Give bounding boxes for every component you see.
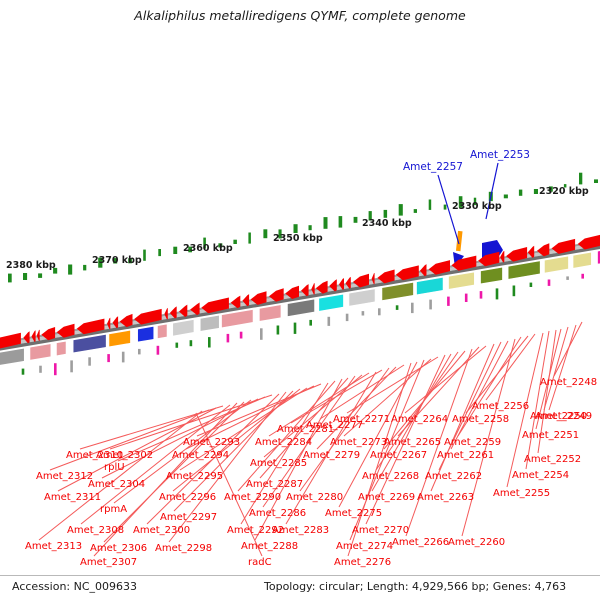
gene-label[interactable]: Amet_2259 — [444, 437, 501, 448]
gene-label[interactable]: Amet_2262 — [425, 471, 482, 482]
cog-category-block[interactable] — [544, 256, 568, 273]
gene-label[interactable]: Amet_2306 — [90, 543, 147, 554]
rna-feature-tick[interactable] — [519, 190, 522, 196]
cog-category-block[interactable] — [259, 305, 281, 322]
ruler-tick-label-0: 2380 kbp — [6, 260, 56, 271]
gene-label[interactable]: Amet_2273 — [330, 437, 387, 448]
cog-category-block[interactable] — [0, 348, 24, 366]
gene-label[interactable]: Amet_2269 — [358, 492, 415, 503]
gene-label[interactable]: Amet_2297 — [160, 512, 217, 523]
cog-category-block[interactable] — [349, 289, 375, 306]
feature-amet-2257-tick[interactable] — [456, 231, 463, 251]
rna-feature-tick[interactable] — [173, 247, 177, 254]
gene-label[interactable]: Amet_2307 — [80, 557, 137, 568]
gene-label[interactable]: Amet_2263 — [417, 492, 474, 503]
gene-label[interactable]: Amet_2274 — [336, 541, 393, 552]
secondary-feature-tick[interactable] — [294, 323, 297, 334]
secondary-feature-tick[interactable] — [378, 308, 381, 315]
secondary-feature-tick[interactable] — [411, 303, 414, 313]
ruler-tick-label-5: 2330 kbp — [452, 201, 502, 212]
secondary-feature-tick[interactable] — [22, 369, 25, 375]
rna-feature-tick[interactable] — [233, 240, 237, 244]
gene-label[interactable]: Amet_2293 — [183, 437, 240, 448]
secondary-feature-tick[interactable] — [346, 314, 349, 321]
cog-category-block[interactable] — [56, 341, 66, 356]
secondary-feature-tick[interactable] — [240, 332, 243, 339]
gene-label[interactable]: Amet_2285 — [250, 458, 307, 469]
gene-label[interactable]: Amet_2312 — [36, 471, 93, 482]
rna-feature-tick[interactable] — [354, 217, 358, 223]
gene-label[interactable]: Amet_2311 — [44, 492, 101, 503]
gene-label[interactable]: Amet_2256 — [472, 401, 529, 412]
secondary-feature-tick[interactable] — [70, 360, 73, 372]
secondary-feature-tick[interactable] — [39, 366, 42, 373]
secondary-feature-tick[interactable] — [309, 320, 312, 326]
gene-arrow-track[interactable] — [0, 231, 600, 349]
secondary-feature-tick[interactable] — [157, 346, 160, 355]
rna-feature-tick[interactable] — [143, 250, 146, 261]
rna-feature-tick[interactable] — [83, 265, 86, 271]
rna-feature-tick[interactable] — [38, 273, 42, 278]
gene-label[interactable]: Amet_2267 — [370, 450, 427, 461]
gene-label[interactable]: Amet_2270 — [352, 525, 409, 536]
gene-label[interactable]: Amet_2266 — [392, 537, 449, 548]
gene-label[interactable]: Amet_2280 — [286, 492, 343, 503]
secondary-feature-tick[interactable] — [496, 288, 499, 299]
rna-feature-tick[interactable] — [429, 200, 432, 210]
cog-category-block[interactable] — [417, 277, 444, 295]
cog-category-block[interactable] — [109, 330, 131, 347]
ruler-tick-label-2: 2360 kbp — [183, 243, 233, 254]
cog-category-block[interactable] — [573, 252, 591, 268]
rna-feature-tick[interactable] — [504, 195, 508, 199]
cog-category-block[interactable] — [319, 294, 344, 311]
gene-label[interactable]: Amet_2308 — [67, 525, 124, 536]
gene-label[interactable]: Amet_2251 — [522, 430, 579, 441]
secondary-feature-tick[interactable] — [176, 343, 179, 348]
gene-label[interactable]: radC — [248, 557, 272, 568]
rna-feature-tick[interactable] — [8, 274, 12, 283]
leader-line — [549, 325, 576, 410]
gene-label[interactable]: Amet_2304 — [88, 479, 145, 490]
secondary-feature-tick[interactable] — [227, 334, 230, 343]
cog-category-block[interactable] — [157, 324, 167, 339]
rna-feature-tick[interactable] — [23, 273, 27, 280]
gene-label[interactable]: Amet_2313 — [25, 541, 82, 552]
gene-label[interactable]: Amet_2265 — [384, 437, 441, 448]
secondary-feature-tick[interactable] — [566, 276, 569, 280]
secondary-feature-tick[interactable] — [513, 286, 516, 297]
rna-feature-tick[interactable] — [579, 173, 582, 185]
secondary-feature-tick[interactable] — [208, 337, 211, 347]
cog-category-block[interactable] — [287, 299, 314, 317]
secondary-feature-tick[interactable] — [581, 274, 584, 279]
secondary-feature-tick[interactable] — [548, 280, 551, 286]
gene-label[interactable]: Amet_2286 — [249, 508, 306, 519]
cog-category-block[interactable] — [138, 326, 154, 342]
genome-map-viewer: Alkaliphilus metalliredigens QYMF, compl… — [0, 0, 600, 600]
gene-label[interactable]: Amet_2281 — [277, 424, 334, 435]
gene-label[interactable]: Amet_2300 — [133, 525, 190, 536]
gene-label[interactable]: Amet_2292 — [227, 525, 284, 536]
gene-label[interactable]: Amet_2295 — [166, 471, 223, 482]
gene-label[interactable]: Amet_2310 — [66, 450, 123, 461]
gene-label[interactable]: Amet_2279 — [303, 450, 360, 461]
rna-feature-tick[interactable] — [158, 249, 161, 256]
gene-label[interactable]: rplU — [104, 462, 125, 473]
gene-label[interactable]: rpmA — [100, 504, 127, 515]
cog-category-block[interactable] — [173, 319, 194, 336]
gene-label[interactable]: Amet_2248 — [540, 377, 597, 388]
gene-label[interactable]: Amet_2288 — [241, 541, 298, 552]
rna-feature-tick[interactable] — [309, 225, 312, 230]
gene-label[interactable]: Amet_2254 — [512, 470, 569, 481]
accession-text: Accession: NC_009633 — [12, 580, 137, 593]
rna-feature-tick[interactable] — [294, 224, 298, 233]
gene-label[interactable]: Amet_2298 — [155, 543, 212, 554]
gene-label[interactable]: Amet_2296 — [159, 492, 216, 503]
secondary-feature-tick[interactable] — [328, 317, 331, 326]
gene-label[interactable]: Amet_2294 — [172, 450, 229, 461]
secondary-feature-tick[interactable] — [480, 291, 483, 299]
rna-feature-tick[interactable] — [444, 205, 447, 210]
gene-label[interactable]: Amet_2250 — [530, 411, 587, 422]
gene-label[interactable]: Amet_2276 — [334, 557, 391, 568]
callout-label-amet_2257[interactable]: Amet_2257 — [403, 161, 463, 173]
ruler-tick-label-3: 2350 kbp — [273, 233, 323, 244]
secondary-feature-tick[interactable] — [107, 354, 110, 362]
rna-feature-tick[interactable] — [399, 204, 403, 216]
secondary-feature-tick[interactable] — [122, 352, 125, 363]
cog-category-block[interactable] — [481, 267, 503, 284]
gene-label[interactable]: Amet_2287 — [246, 479, 303, 490]
rna-feature-tick[interactable] — [248, 233, 251, 244]
status-bar: Accession: NC_009633 Topology: circular;… — [0, 575, 600, 600]
secondary-feature-tick[interactable] — [277, 326, 280, 335]
gene-label[interactable]: Amet_2260 — [448, 537, 505, 548]
gene-label[interactable]: Amet_2261 — [437, 450, 494, 461]
genome-summary-text: Topology: circular; Length: 4,929,566 bp… — [264, 580, 566, 593]
cog-category-block[interactable] — [30, 344, 51, 361]
cog-category-track[interactable] — [0, 195, 600, 366]
rna-feature-tick[interactable] — [263, 229, 267, 238]
cog-category-block[interactable] — [200, 315, 219, 331]
rna-feature-tick[interactable] — [339, 216, 343, 228]
rna-feature-tick[interactable] — [534, 189, 538, 194]
rna-feature-tick[interactable] — [594, 179, 598, 183]
rna-feature-tick[interactable] — [324, 217, 328, 229]
cog-category-block[interactable] — [449, 272, 475, 289]
leader-line — [320, 365, 404, 419]
gene-label[interactable]: Amet_2275 — [325, 508, 382, 519]
gene-label[interactable]: Amet_2255 — [493, 488, 550, 499]
secondary-feature-tick[interactable] — [54, 363, 57, 375]
secondary-feature-tick[interactable] — [138, 349, 141, 355]
ruler-tick-label-1: 2370 kbp — [92, 255, 142, 266]
gene-label[interactable]: Amet_2258 — [452, 414, 509, 425]
secondary-feature-tick[interactable] — [465, 294, 468, 302]
gene-label[interactable]: Amet_2252 — [524, 454, 581, 465]
ruler-tick-label-6: 2320 kbp — [539, 186, 589, 197]
gene-label[interactable]: Amet_2290 — [224, 492, 281, 503]
secondary-feature-tick[interactable] — [447, 297, 450, 306]
gene-label[interactable]: Amet_2268 — [362, 471, 419, 482]
secondary-feature-tick[interactable] — [260, 328, 263, 340]
rna-feature-tick[interactable] — [414, 209, 417, 213]
secondary-feature-tick[interactable] — [362, 311, 365, 315]
callout-label-amet_2253[interactable]: Amet_2253 — [470, 149, 530, 161]
rna-feature-tick[interactable] — [384, 210, 388, 218]
secondary-feature-tick[interactable] — [190, 340, 193, 346]
secondary-feature-tick[interactable] — [530, 283, 533, 287]
gene-label[interactable]: Amet_2264 — [391, 414, 448, 425]
secondary-feature-tick[interactable] — [396, 305, 399, 310]
rna-feature-tick[interactable] — [68, 265, 72, 275]
secondary-feature-tick[interactable] — [429, 300, 432, 310]
gene-label[interactable]: Amet_2284 — [255, 437, 312, 448]
leader-line — [486, 334, 535, 400]
secondary-feature-tick[interactable] — [88, 357, 91, 365]
ruler-tick-label-4: 2340 kbp — [362, 218, 412, 229]
